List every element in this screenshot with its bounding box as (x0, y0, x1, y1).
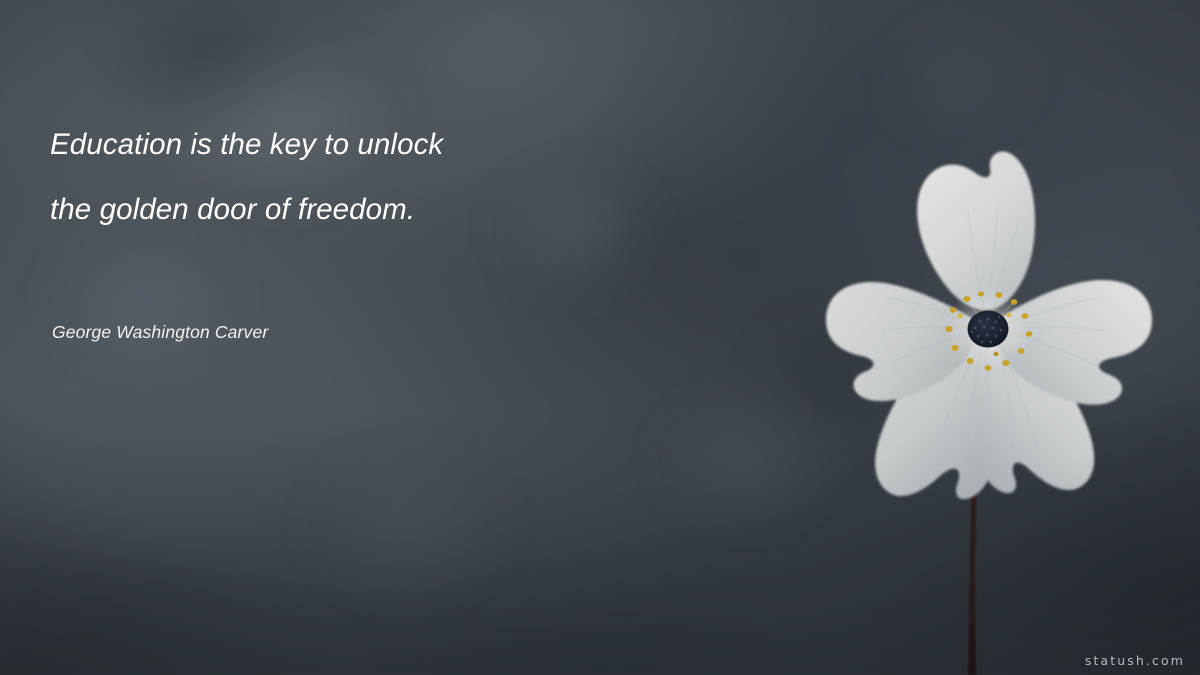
quote-text: Education is the key to unlock the golde… (50, 112, 670, 242)
quote-author: George Washington Carver (52, 322, 268, 343)
quote-line-1: Education is the key to unlock (50, 112, 670, 177)
site-watermark: statush.com (1085, 653, 1185, 668)
quote-line-2: the golden door of freedom. (50, 177, 670, 242)
quote-card: Education is the key to unlock the golde… (0, 0, 1200, 675)
